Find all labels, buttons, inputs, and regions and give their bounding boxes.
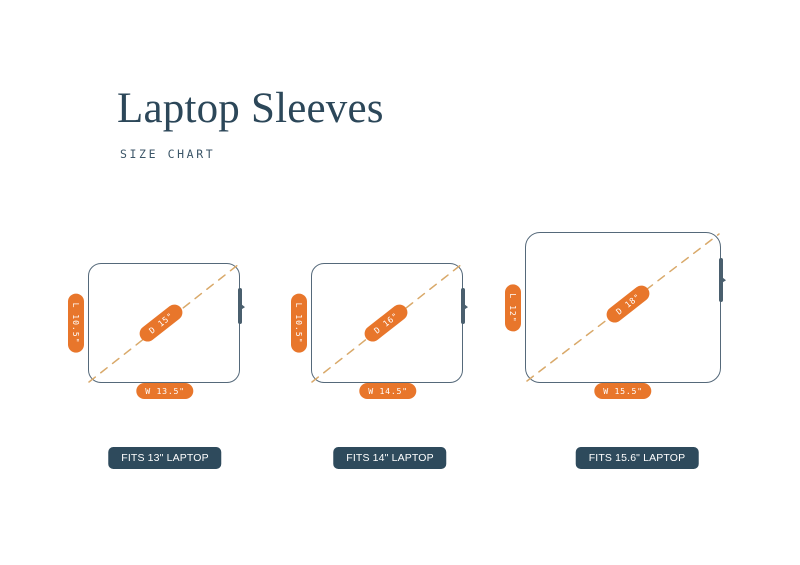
- sleeve-diagram-13: L 10.5" D 15" W 13.5": [60, 225, 270, 405]
- page-title: Laptop Sleeves: [117, 84, 537, 134]
- chart-header: Laptop Sleeves SIZE CHART: [117, 84, 537, 161]
- width-pill-14: W 14.5": [359, 383, 416, 399]
- caption-pill-156: FITS 15.6" LAPTOP: [576, 447, 699, 469]
- sleeve-diagram-156: L 12" D 18" W 15.5": [495, 196, 750, 406]
- length-pill-13: L 10.5": [68, 294, 84, 353]
- zipper-pull-tab-156: [719, 258, 727, 302]
- size-chart-canvas: Laptop Sleeves SIZE CHART L 10.5" D 15" …: [0, 0, 800, 565]
- zipper-pull-tab-13: [238, 288, 245, 324]
- page-subtitle: SIZE CHART: [120, 147, 537, 161]
- length-pill-156: L 12": [505, 284, 521, 331]
- length-pill-14: L 10.5": [291, 294, 307, 353]
- caption-pill-14: FITS 14" LAPTOP: [333, 447, 446, 469]
- caption-pill-13: FITS 13" LAPTOP: [108, 447, 221, 469]
- zipper-pull-tab-14: [461, 288, 468, 324]
- width-pill-13: W 13.5": [136, 383, 193, 399]
- sleeve-diagram-14: L 10.5" D 16" W 14.5": [283, 225, 493, 405]
- width-pill-156: W 15.5": [594, 383, 651, 399]
